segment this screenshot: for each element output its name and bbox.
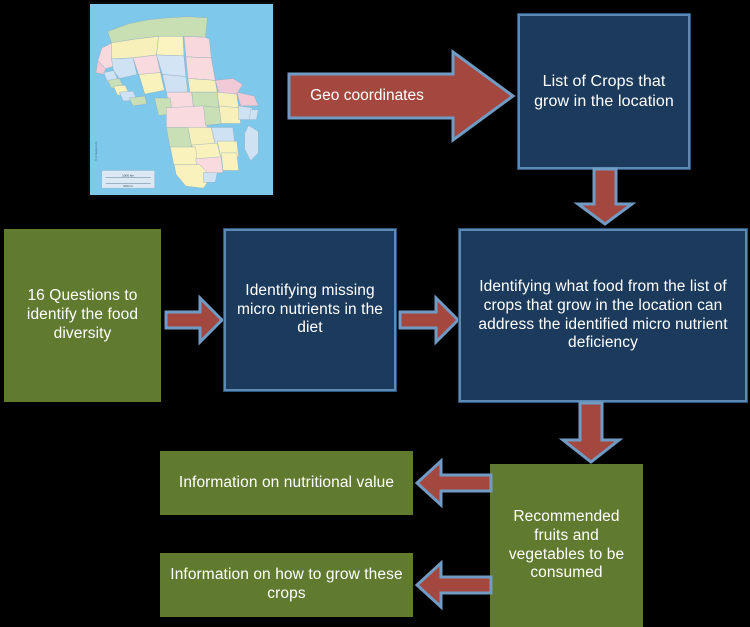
africa-map-svg: 1000 km 600 mi © d-maps.com <box>90 4 273 195</box>
arrow-crops-to-address <box>575 168 635 226</box>
africa-map-image: 1000 km 600 mi © d-maps.com <box>88 2 275 197</box>
arrow-address-to-recommended <box>560 402 622 464</box>
node-identifying-missing-micro-nutrients[interactable]: Identifying missing micro nutrients in t… <box>224 229 396 391</box>
node-recommended-fruits-vegetables[interactable]: Recommended fruits and vegetables to be … <box>490 464 643 627</box>
arrow-geo-coordinates <box>287 50 515 142</box>
node-information-how-to-grow[interactable]: Information on how to grow these crops <box>160 553 413 617</box>
arrow-recommended-to-howtogrow <box>415 561 493 609</box>
node-information-nutritional-value[interactable]: Information on nutritional value <box>160 451 413 515</box>
arrow-recommended-to-nutritional <box>415 459 493 507</box>
svg-text:© d-maps.com: © d-maps.com <box>94 141 98 161</box>
node-16-questions[interactable]: 16 Questions to identify the food divers… <box>4 229 161 402</box>
diagram-canvas: 1000 km 600 mi © d-maps.com Geo coordina… <box>0 0 750 627</box>
map-legend: 1000 km 600 mi <box>102 171 155 189</box>
node-list-of-crops[interactable]: List of Crops that grow in the location <box>518 14 690 169</box>
node-identifying-food-addressing-deficiency[interactable]: Identifying what food from the list of c… <box>459 229 747 402</box>
svg-text:1000 km: 1000 km <box>122 173 134 177</box>
svg-text:600 mi: 600 mi <box>123 184 133 188</box>
arrow-missing-to-address <box>398 296 460 344</box>
arrow-questions-to-missing <box>164 296 224 344</box>
